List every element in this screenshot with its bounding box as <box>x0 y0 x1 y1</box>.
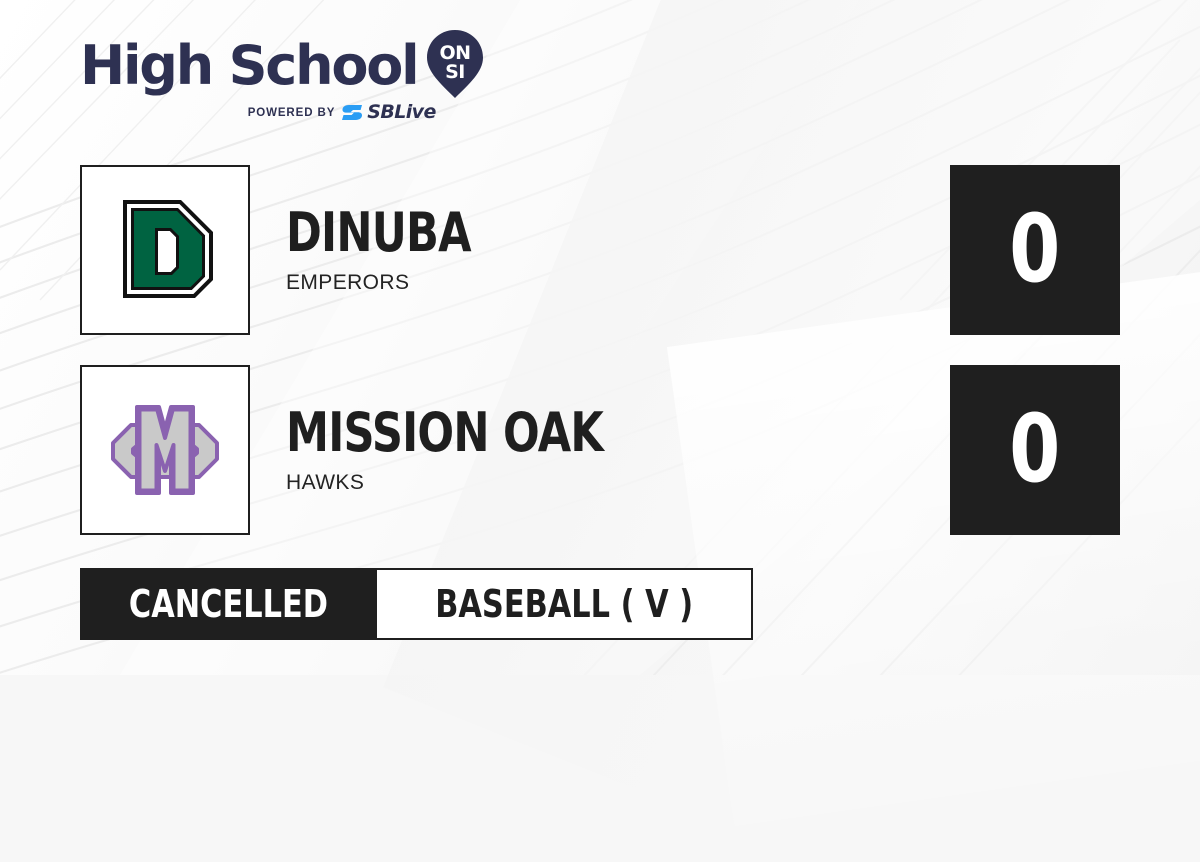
page-title: High School <box>80 37 417 95</box>
team-mascot: EMPERORS <box>286 271 517 295</box>
on-si-pin-icon: ON SI <box>425 28 485 100</box>
sport-label-box: BASEBALL ( V ) <box>377 568 753 640</box>
team-mascot: HAWKS <box>286 471 682 495</box>
status-badge-label: CANCELLED <box>129 585 328 623</box>
score-box-mission-oak: 0 <box>950 365 1120 535</box>
powered-by-row: POWERED BY SBLive <box>80 103 485 122</box>
sblive-logo: SBLive <box>342 103 435 122</box>
brand-title-row: High School ON SI <box>80 32 485 100</box>
svg-text:SI: SI <box>446 61 466 83</box>
team-logo-card-dinuba <box>80 165 250 335</box>
scoreboard-graphic: High School ON SI POWERED BY SBLive <box>0 0 1200 675</box>
score-value: 0 <box>1009 403 1060 497</box>
team-info-dinuba: DINUBA EMPERORS <box>286 205 517 295</box>
team-info-mission-oak: MISSION OAK HAWKS <box>286 405 682 495</box>
team-name: DINUBA <box>286 205 471 261</box>
team-row-away: MISSION OAK HAWKS <box>80 365 682 535</box>
dinuba-d-logo-icon <box>99 184 231 316</box>
score-box-dinuba: 0 <box>950 165 1120 335</box>
powered-by-label: POWERED BY <box>248 107 336 119</box>
team-name: MISSION OAK <box>286 405 603 461</box>
brand-header: High School ON SI POWERED BY SBLive <box>80 32 485 122</box>
mission-oak-mo-logo-icon <box>101 395 229 505</box>
team-row-home: DINUBA EMPERORS <box>80 165 517 335</box>
sblive-wordmark: SBLive <box>367 103 435 122</box>
sport-label: BASEBALL ( V ) <box>435 585 693 623</box>
sblive-bolt-icon <box>342 104 364 121</box>
game-status-bar: CANCELLED BASEBALL ( V ) <box>80 568 753 640</box>
score-value: 0 <box>1009 203 1060 297</box>
status-badge: CANCELLED <box>80 568 377 640</box>
team-logo-card-mission-oak <box>80 365 250 535</box>
